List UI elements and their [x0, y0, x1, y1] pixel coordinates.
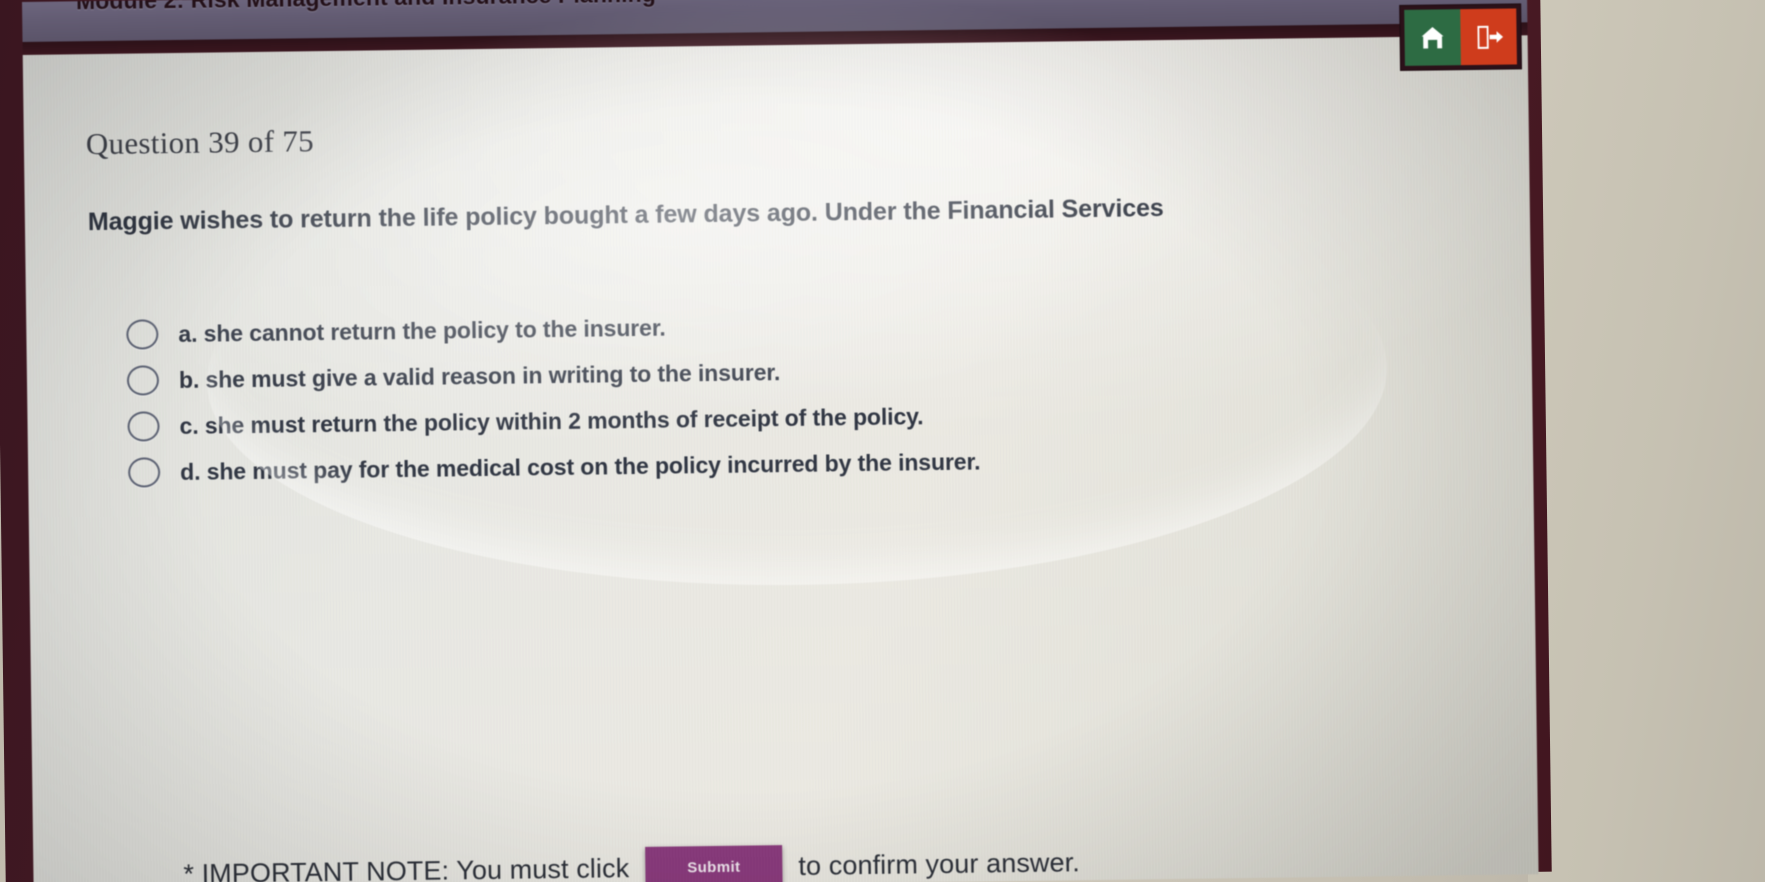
- screen-photo: Module 2: Risk Management and Insurance …: [0, 0, 1765, 882]
- radio-b[interactable]: [127, 365, 159, 395]
- home-button[interactable]: [1404, 9, 1461, 66]
- answer-options: a. she cannot return the policy to the i…: [126, 295, 1368, 495]
- radio-a[interactable]: [126, 319, 158, 349]
- top-right-icon-tray: [1399, 3, 1522, 71]
- option-c-label: c. she must return the policy within 2 m…: [179, 403, 923, 440]
- home-icon: [1416, 22, 1448, 52]
- monitor-screen: Module 2: Risk Management and Insurance …: [22, 0, 1539, 882]
- important-note: * IMPORTANT NOTE: You must click Submit …: [183, 841, 1080, 882]
- option-d-label: d. she must pay for the medical cost on …: [180, 448, 981, 485]
- radio-c[interactable]: [127, 411, 159, 441]
- question-prompt: Maggie wishes to return the life policy …: [88, 190, 1318, 239]
- option-b-label: b. she must give a valid reason in writi…: [179, 359, 781, 394]
- logout-icon: [1472, 22, 1504, 52]
- quiz-page: Question 39 of 75 Maggie wishes to retur…: [23, 35, 1539, 882]
- note-suffix: to confirm your answer.: [798, 847, 1080, 882]
- submit-button[interactable]: Submit: [645, 845, 783, 882]
- wall-right-panel: [1528, 0, 1765, 882]
- question-counter: Question 39 of 75: [86, 123, 315, 162]
- note-prefix: * IMPORTANT NOTE: You must click: [183, 853, 629, 882]
- logout-button[interactable]: [1460, 8, 1517, 65]
- module-title: Module 2: Risk Management and Insurance …: [76, 0, 656, 15]
- radio-d[interactable]: [128, 457, 160, 487]
- option-a-label: a. she cannot return the policy to the i…: [178, 314, 666, 347]
